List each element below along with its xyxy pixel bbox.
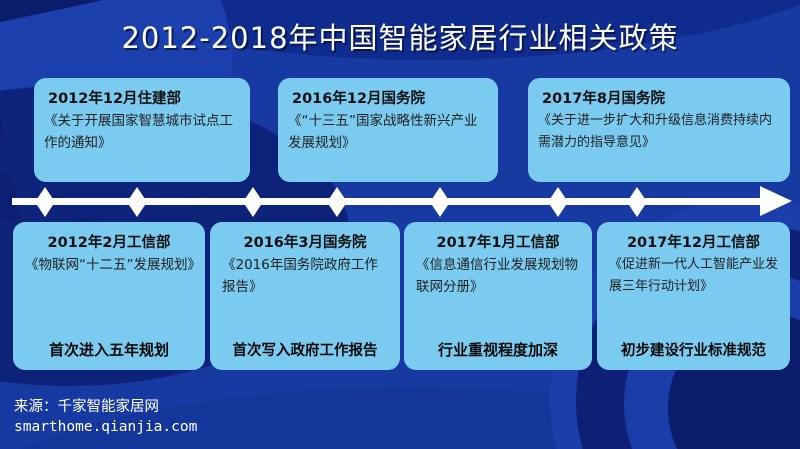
policy-card-bottom-3[interactable]: 2017年1月工信部 《信息通信行业发展规划物联网分册》 行业重视程度加深 xyxy=(404,222,592,370)
timeline-arrow xyxy=(0,185,800,219)
timeline-node-4[interactable] xyxy=(327,187,347,217)
policy-document: 《关于开展国家智慧城市试点工作的通知》 xyxy=(44,110,240,154)
policy-org: 2017年12月工信部 xyxy=(607,232,780,254)
policy-document: 《关于进一步扩大和升级信息消费持续内需潜力的指导意见》 xyxy=(538,110,780,154)
policy-card-bottom-1[interactable]: 2012年2月工信部 《物联网“十二五”发展规划》 首次进入五年规划 xyxy=(13,222,205,370)
source-label: 来源：千家智能家居网 xyxy=(14,397,197,417)
timeline-node-3[interactable] xyxy=(243,187,263,217)
policy-tagline: 初步建设行业标准规范 xyxy=(597,339,790,360)
timeline-node-2[interactable] xyxy=(127,187,147,217)
policy-document: 《促进新一代人工智能产业发展三年行动计划》 xyxy=(607,254,780,298)
policy-document: 《2016年国务院政府工作报告》 xyxy=(220,254,390,298)
policy-card-top-1[interactable]: 2012年12月住建部 《关于开展国家智慧城市试点工作的通知》 xyxy=(34,78,250,182)
policy-document: 《物联网“十二五”发展规划》 xyxy=(23,254,195,276)
timeline-arrowhead-icon xyxy=(760,186,792,216)
policy-tagline: 首次进入五年规划 xyxy=(13,339,205,360)
policy-document: 《“十三五”国家战略性新兴产业发展规划》 xyxy=(288,110,488,154)
timeline-node-1[interactable] xyxy=(35,187,55,217)
timeline-node-6[interactable] xyxy=(548,187,568,217)
policy-tagline: 首次写入政府工作报告 xyxy=(210,339,400,360)
policy-card-bottom-2[interactable]: 2016年3月国务院 《2016年国务院政府工作报告》 首次写入政府工作报告 xyxy=(210,222,400,370)
policy-org: 2016年12月国务院 xyxy=(288,88,488,110)
policy-timeline-poster: 2012-2018年中国智能家居行业相关政策 2012年12月住建部 《关于开展… xyxy=(0,0,800,449)
policy-org: 2017年8月国务院 xyxy=(538,88,780,110)
policy-org: 2012年12月住建部 xyxy=(44,88,240,110)
timeline-node-5[interactable] xyxy=(430,187,450,217)
policy-card-bottom-4[interactable]: 2017年12月工信部 《促进新一代人工智能产业发展三年行动计划》 初步建设行业… xyxy=(597,222,790,370)
policy-org: 2016年3月国务院 xyxy=(220,232,390,254)
policy-tagline: 行业重视程度加深 xyxy=(404,339,592,360)
policy-org: 2012年2月工信部 xyxy=(23,232,195,254)
timeline-line xyxy=(12,198,764,205)
policy-org: 2017年1月工信部 xyxy=(414,232,582,254)
timeline-node-7[interactable] xyxy=(627,187,647,217)
policy-card-top-3[interactable]: 2017年8月国务院 《关于进一步扩大和升级信息消费持续内需潜力的指导意见》 xyxy=(528,78,790,182)
source-footer: 来源：千家智能家居网 smarthome.qianjia.com xyxy=(14,397,197,437)
policy-document: 《信息通信行业发展规划物联网分册》 xyxy=(414,254,582,298)
policy-card-top-2[interactable]: 2016年12月国务院 《“十三五”国家战略性新兴产业发展规划》 xyxy=(278,78,498,182)
source-url[interactable]: smarthome.qianjia.com xyxy=(14,417,197,437)
page-title: 2012-2018年中国智能家居行业相关政策 xyxy=(0,18,800,58)
